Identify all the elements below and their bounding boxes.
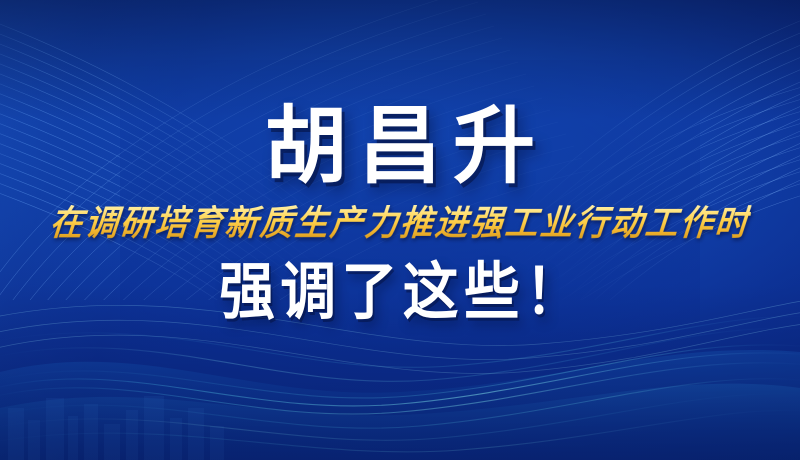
kicker-heading: 强调了这些！ (214, 261, 587, 323)
promo-banner: 胡昌升 在调研培育新质生产力推进强工业行动工作时 强调了这些！ (0, 0, 800, 460)
page-title: 胡昌升 (253, 104, 547, 188)
banner-content: 胡昌升 在调研培育新质生产力推进强工业行动工作时 强调了这些！ (0, 0, 800, 460)
subtitle-calligraphy: 在调研培育新质生产力推进强工业行动工作时 (48, 205, 751, 240)
